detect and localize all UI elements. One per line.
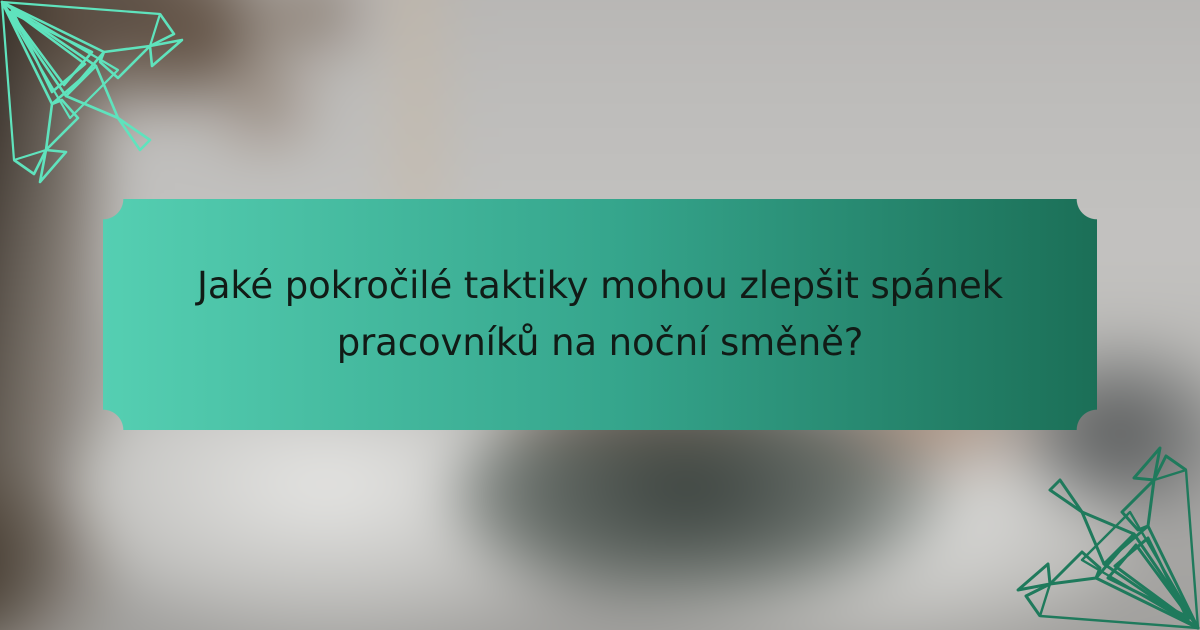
background-branches: [208, 55, 325, 161]
quote-graphic: Jaké pokročilé taktiky mohou zlepšit spá…: [0, 0, 1200, 630]
quote-text: Jaké pokročilé taktiky mohou zlepšit spá…: [170, 258, 1030, 370]
quote-card: Jaké pokročilé taktiky mohou zlepšit spá…: [103, 199, 1097, 430]
